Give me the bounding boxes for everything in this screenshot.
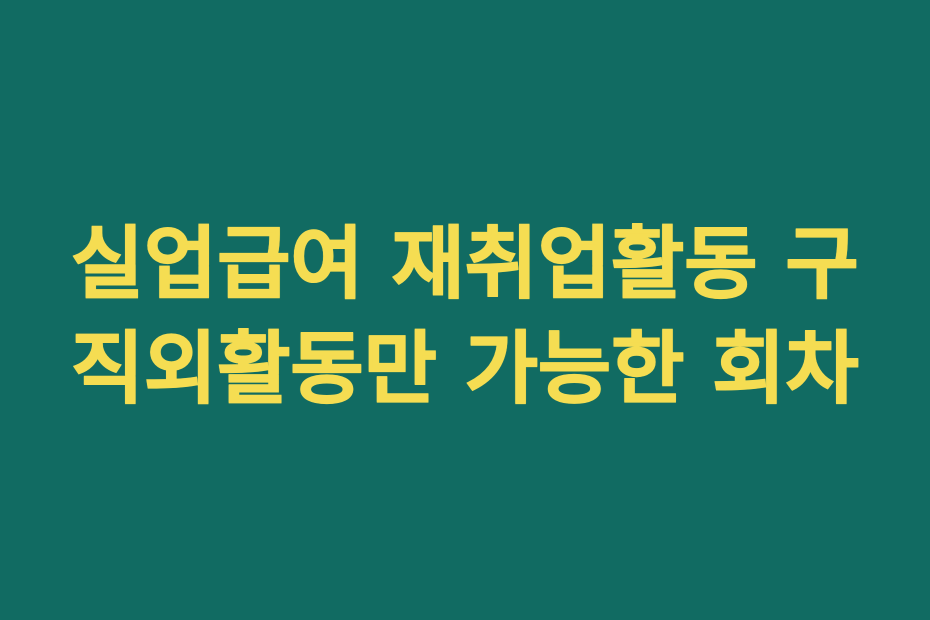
headline-line-2: 직외활동만 가능한 회차	[71, 317, 859, 422]
headline-block: 실업급여 재취업활동 구 직외활동만 가능한 회차	[0, 212, 930, 422]
headline-line-1: 실업급여 재취업활동 구	[71, 212, 859, 317]
banner-canvas: 실업급여 재취업활동 구 직외활동만 가능한 회차	[0, 0, 930, 620]
